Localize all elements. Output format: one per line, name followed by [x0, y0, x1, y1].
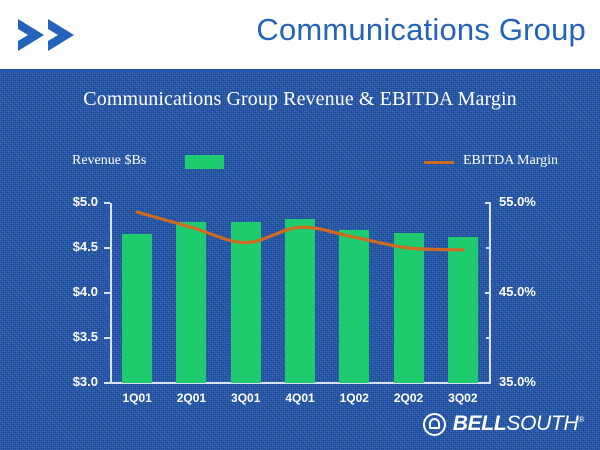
bell-in-circle-icon	[423, 413, 446, 436]
bellsouth-logo: BELLSOUTH®	[423, 412, 584, 436]
chart-title: Communications Group Revenue & EBITDA Ma…	[0, 88, 600, 111]
legend-item-revenue-label: Revenue $Bs	[72, 153, 146, 169]
x-axis-label-2q01: 2Q01	[161, 391, 221, 405]
legend-swatch-ebitda-margin	[424, 161, 454, 164]
registered-mark: ®	[578, 415, 584, 424]
slide-header: Communications Group	[0, 0, 600, 69]
y-axis-left-tick-label: $5.0	[0, 194, 98, 209]
y-axis-right-tick-label: 55.0%	[499, 194, 536, 209]
legend-swatch-revenue	[185, 155, 224, 169]
chart-legend: Revenue $Bs EBITDA Margin	[0, 152, 600, 172]
x-axis-label-1q01: 1Q01	[107, 391, 167, 405]
header-divider	[0, 69, 600, 73]
x-axis-label-2q02: 2Q02	[379, 391, 439, 405]
x-axis-label-3q01: 3Q01	[216, 391, 276, 405]
y-axis-right-tick-label: 45.0%	[499, 284, 536, 299]
page-title: Communications Group	[256, 12, 586, 48]
x-axis-label-4q01: 4Q01	[270, 391, 330, 405]
y-axis-right-tick-label: 35.0%	[499, 374, 536, 389]
line-series-ebitda-margin	[110, 195, 491, 390]
y-axis-left-tick-label: $4.0	[0, 284, 98, 299]
bellsouth-south-text: SOUTH	[506, 412, 578, 435]
x-axis-label-1q02: 1Q02	[324, 391, 384, 405]
x-axis-label-3q02: 3Q02	[433, 391, 493, 405]
bellsouth-wordmark: BELLSOUTH®	[453, 412, 584, 436]
y-axis-left-tick-label: $3.0	[0, 374, 98, 389]
y-axis-left-tick-label: $3.5	[0, 329, 98, 344]
bellsouth-bell-text: BELL	[453, 412, 507, 435]
y-axis-left-tick-label: $4.5	[0, 239, 98, 254]
double-chevron-icon	[14, 16, 94, 54]
legend-item-ebitda-margin-label: EBITDA Margin	[463, 153, 558, 169]
